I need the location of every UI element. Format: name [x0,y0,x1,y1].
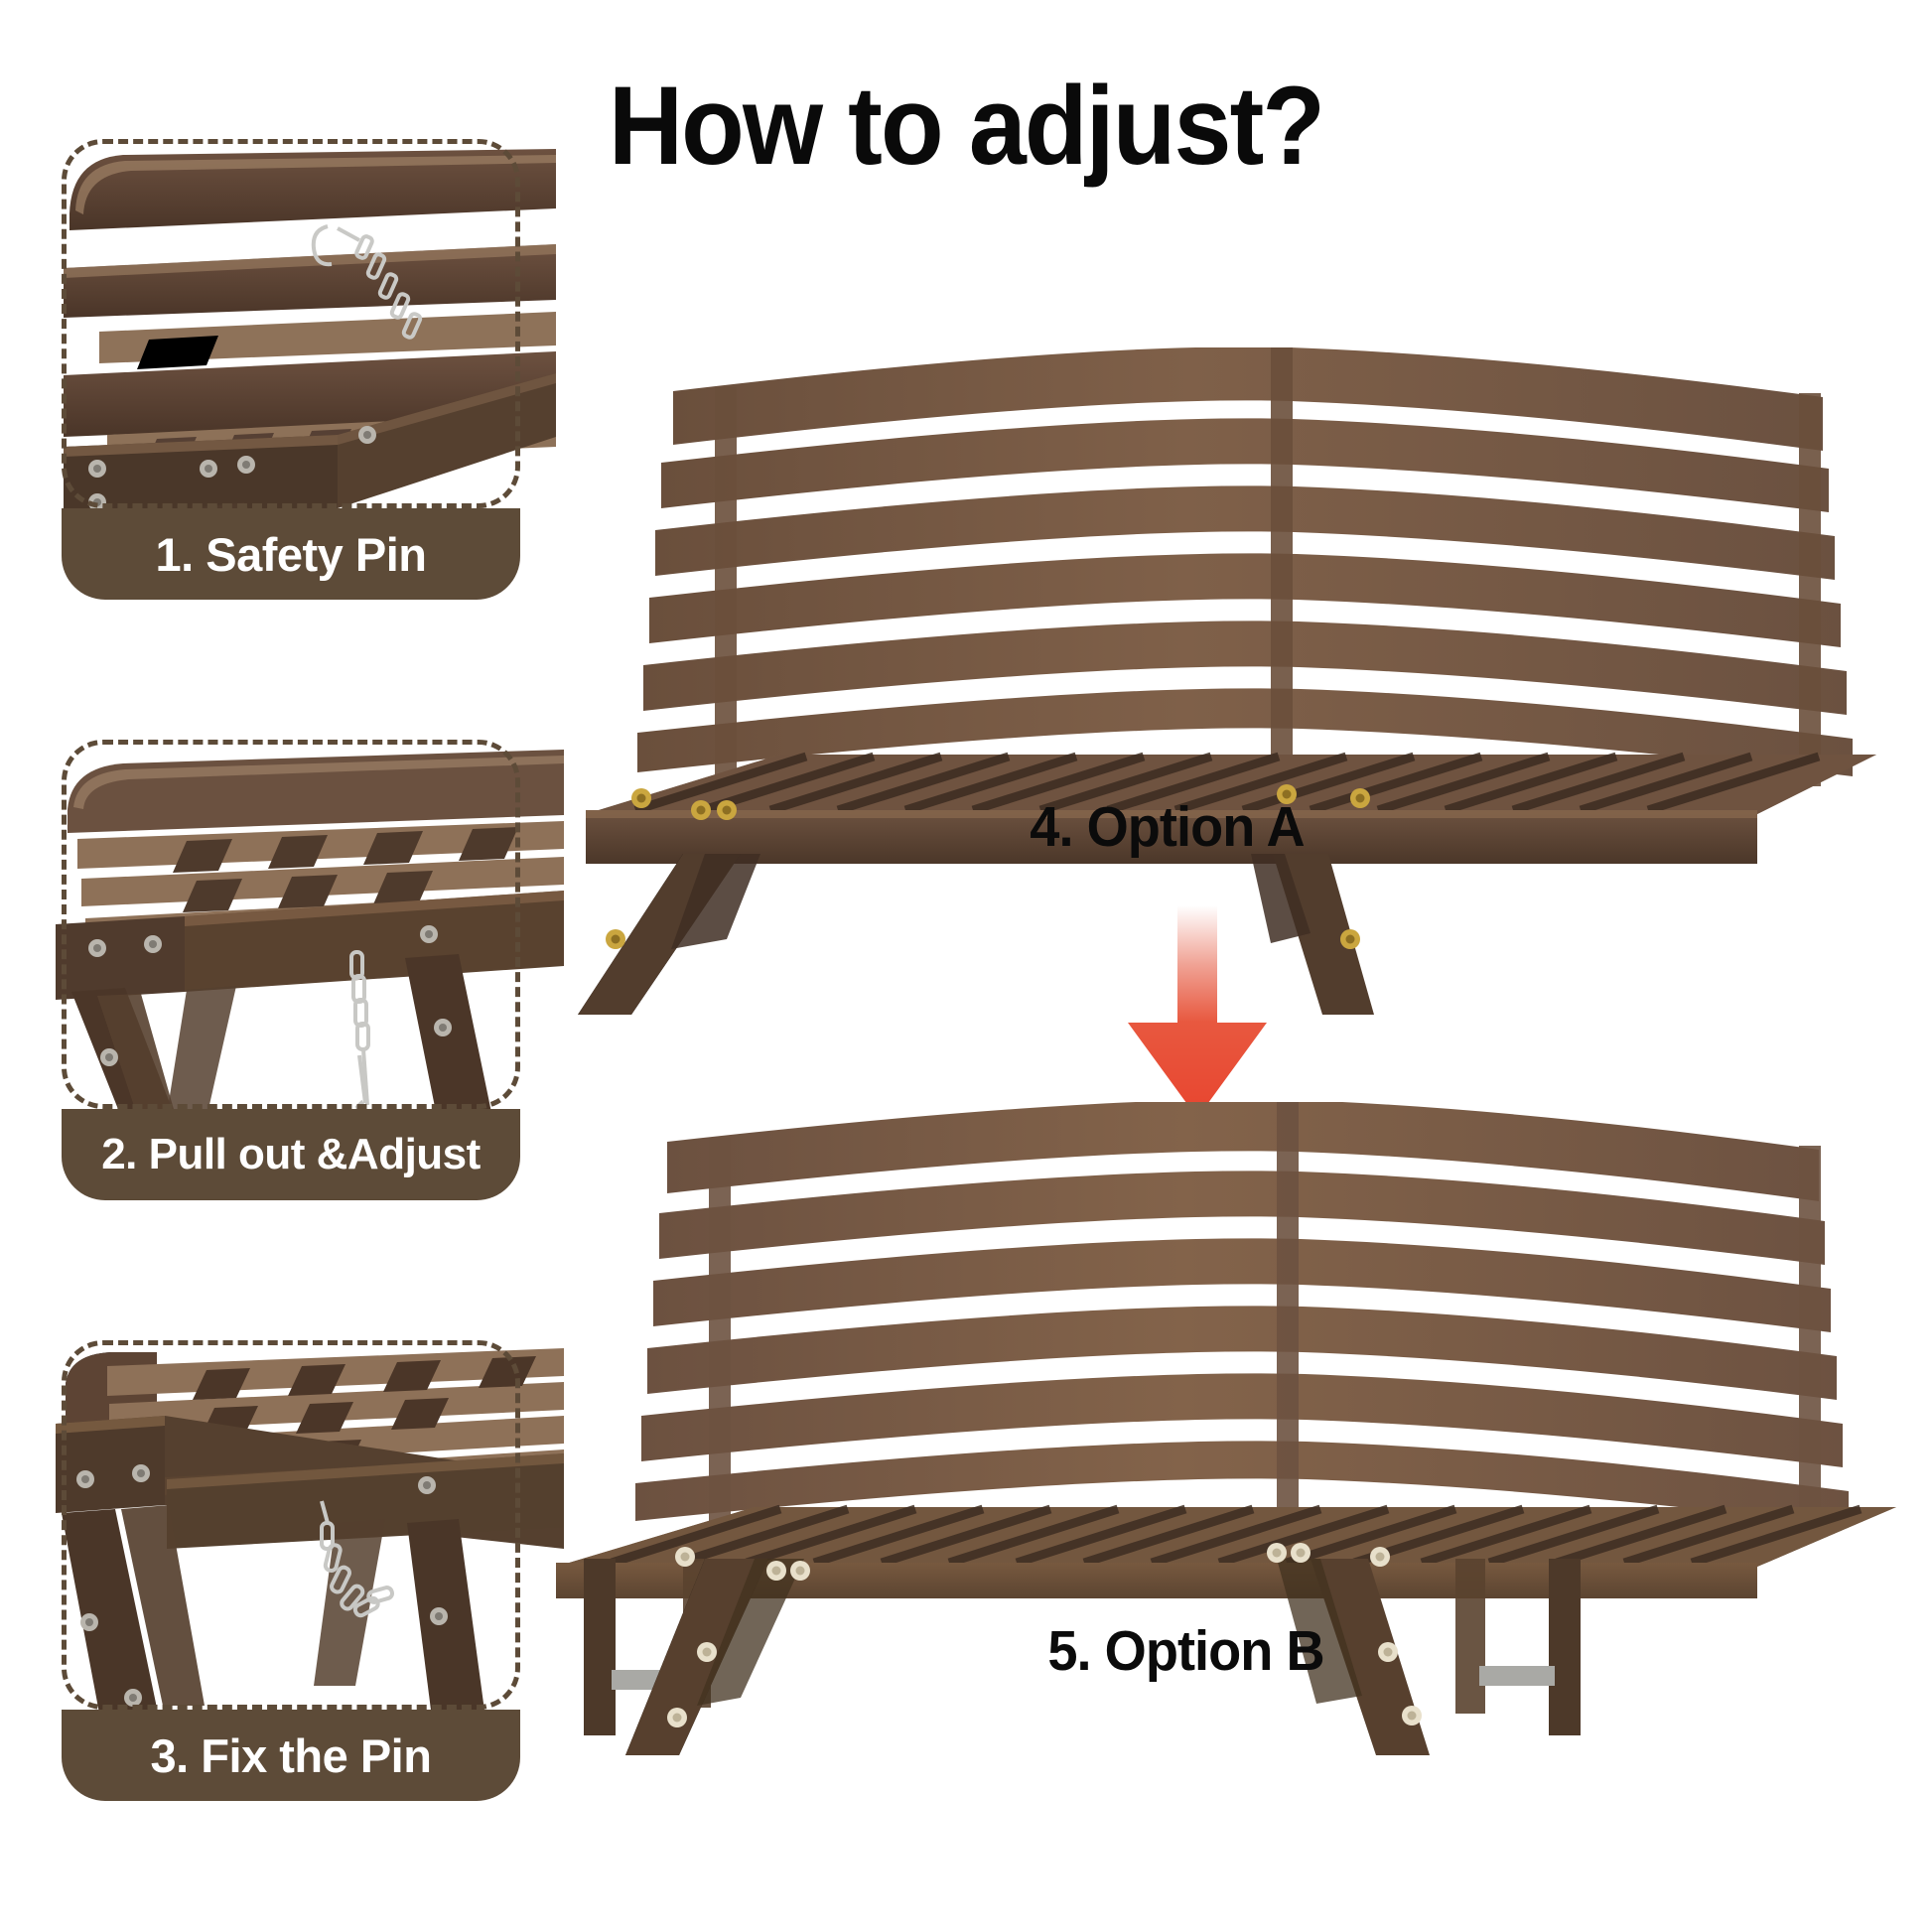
backrest-slats [637,347,1853,786]
backrest-slats [635,1102,1849,1535]
step-1-dashed-frame [62,139,520,508]
step-3-caption: 3. Fix the Pin [62,1710,520,1801]
step-1-caption: 1. Safety Pin [62,508,520,600]
step-card-2: 2. Pull out &Adjust [62,740,520,1196]
option-b-label: 5. Option B [1047,1618,1323,1684]
step-2-caption: 2. Pull out &Adjust [62,1109,520,1200]
step-card-3: 3. Fix the Pin [62,1340,520,1797]
option-b-screws [556,1509,1896,1618]
down-arrow-icon [1110,901,1309,1130]
option-a-label: 4. Option A [1030,794,1304,860]
step-3-dashed-frame [62,1340,520,1710]
angled-leg-left [578,854,760,1015]
step-card-1: 1. Safety Pin [62,139,520,596]
step-2-dashed-frame [62,740,520,1109]
